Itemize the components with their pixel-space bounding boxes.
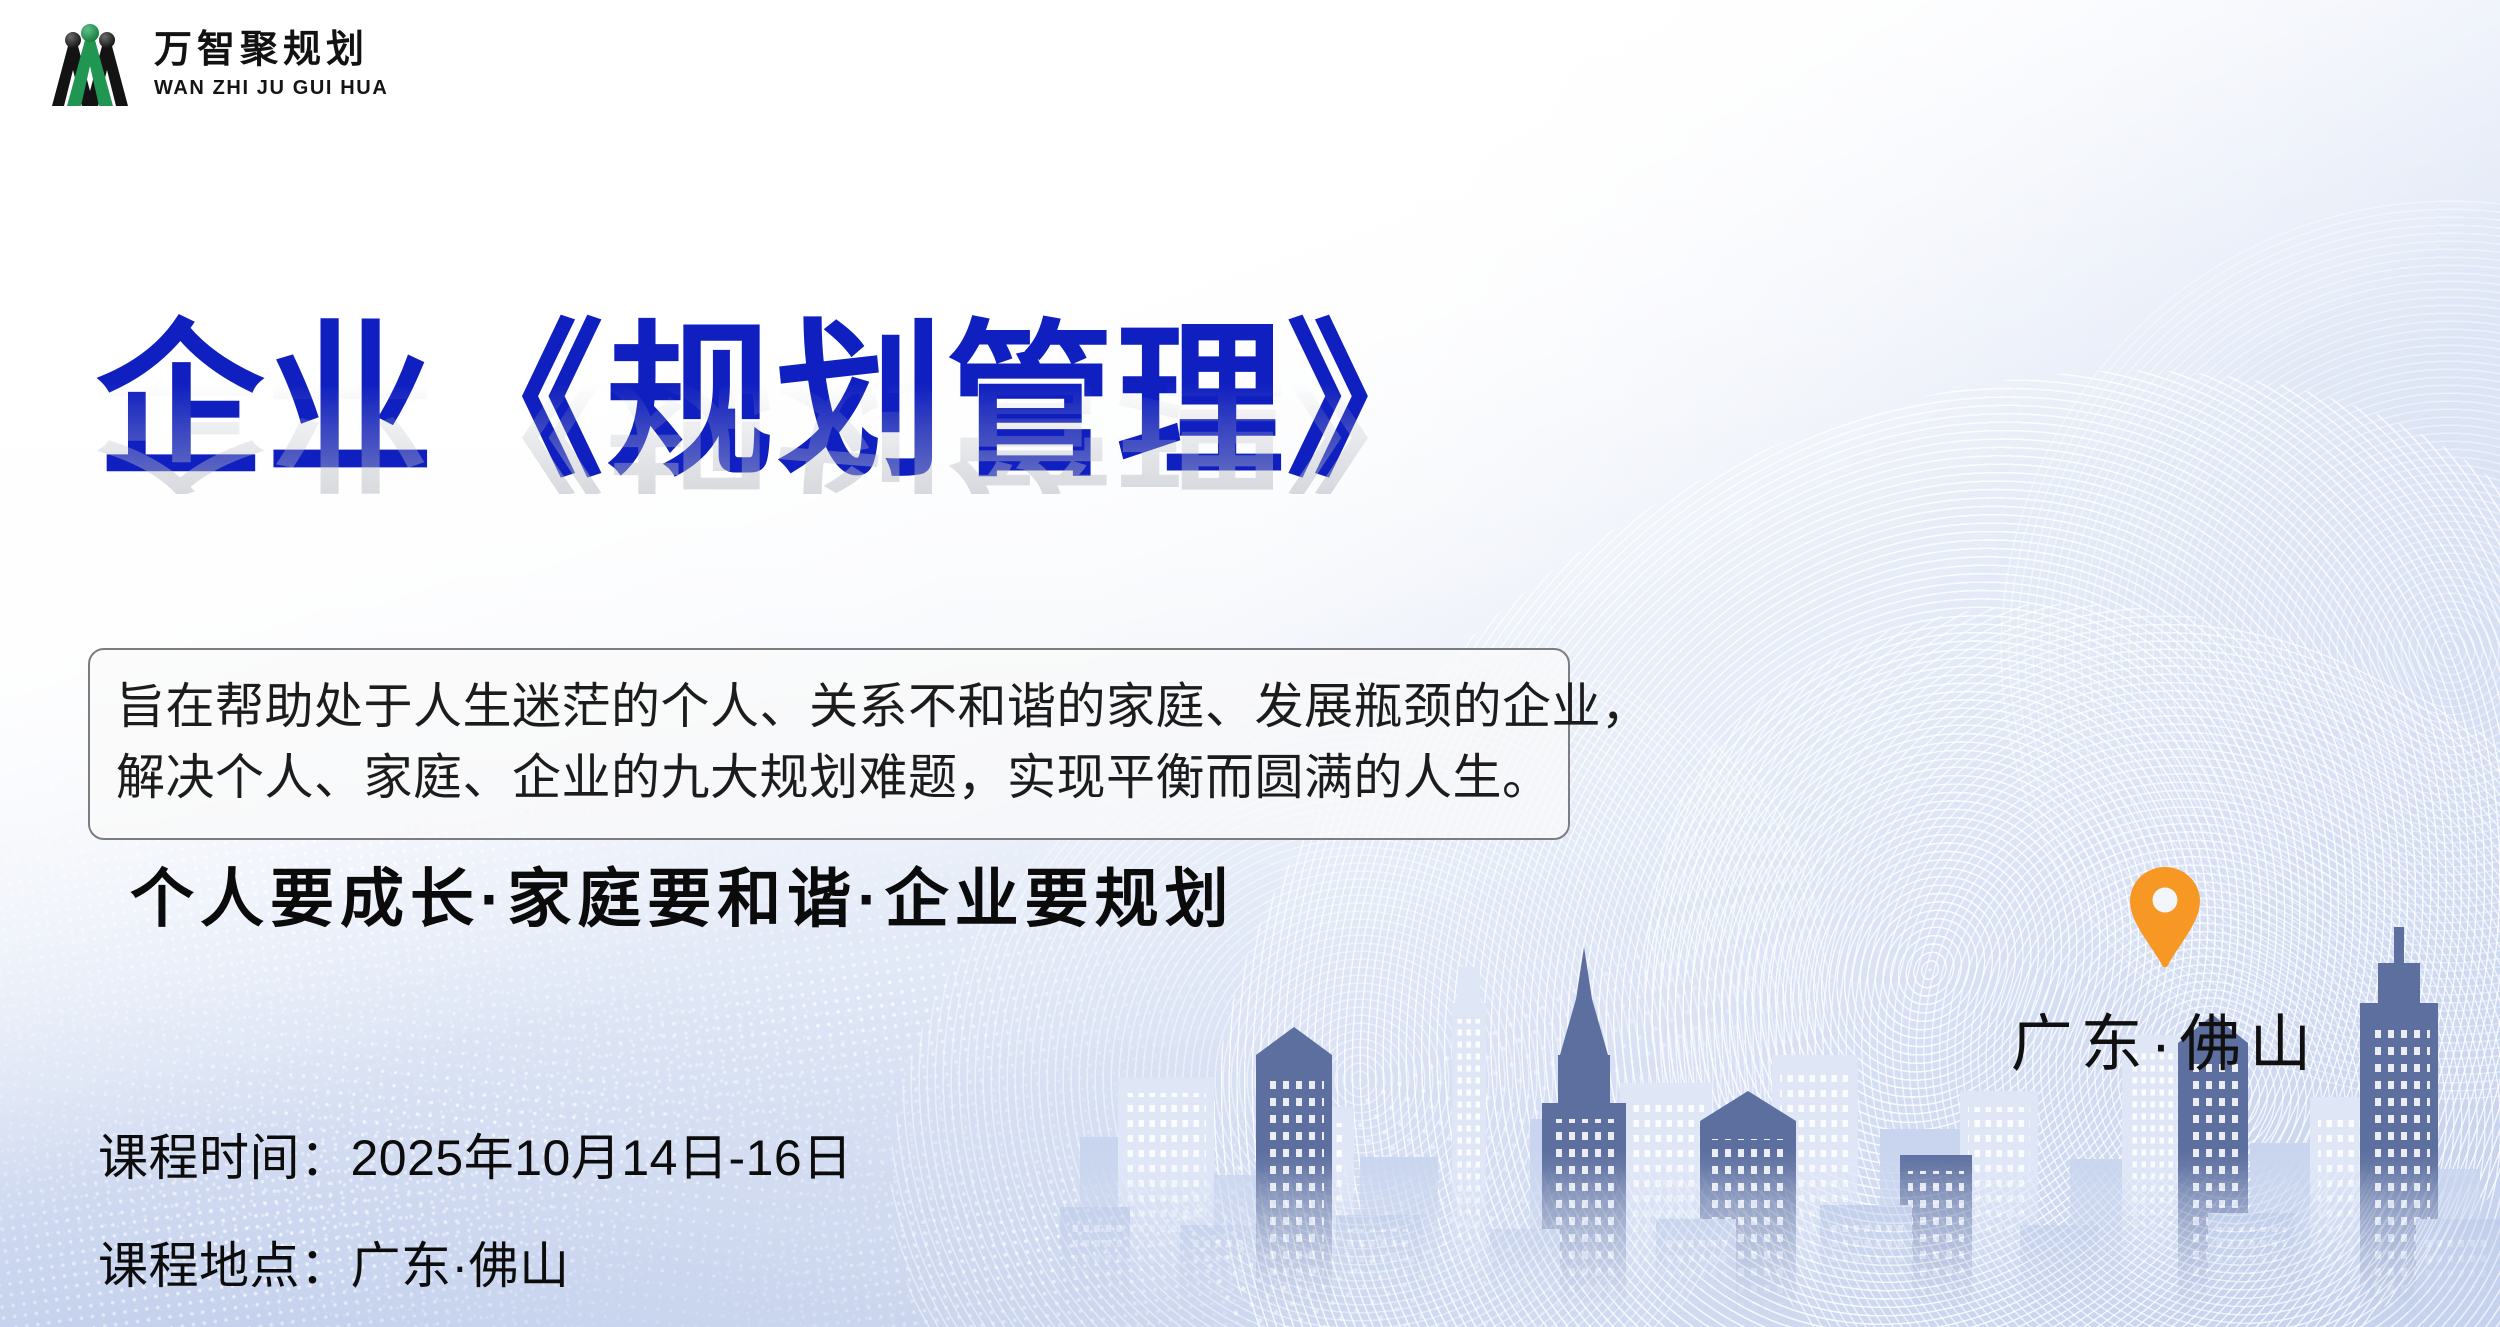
promo-banner: 万智聚规划 WAN ZHI JU GUI HUA 企业《规划管理》 企业《规划管…	[0, 0, 2500, 1327]
brand-name-cn: 万智聚规划	[154, 31, 388, 69]
course-details: 课程时间：2025年10月14日-16日 课程地点：广东·佛山	[98, 1118, 853, 1298]
course-place: 课程地点：广东·佛山	[98, 1226, 853, 1298]
brand-name-pinyin: WAN ZHI JU GUI HUA	[154, 78, 388, 98]
page-title-reflection: 企业《规划管理》	[96, 373, 1636, 494]
hero-title-block: 企业《规划管理》 企业《规划管理》	[96, 318, 1636, 662]
map-pin-icon	[2126, 865, 2204, 969]
brand-logo: 万智聚规划 WAN ZHI JU GUI HUA	[42, 18, 388, 110]
location-label: 广东·佛山	[2011, 993, 2320, 1083]
description-box: 旨在帮助处于人生迷茫的个人、关系不和谐的家庭、发展瓶颈的企业， 解决个人、家庭、…	[88, 648, 1570, 840]
description-line-2: 解决个人、家庭、企业的九大规划难题，实现平衡而圆满的人生。	[116, 743, 1542, 814]
location-marker: 广东·佛山	[1955, 865, 2375, 1083]
tagline: 个人要成长·家庭要和谐·企业要规划	[130, 848, 1235, 940]
description-line-1: 旨在帮助处于人生迷茫的个人、关系不和谐的家庭、发展瓶颈的企业，	[116, 672, 1542, 743]
course-time: 课程时间：2025年10月14日-16日	[98, 1118, 853, 1190]
three-people-group-icon	[42, 18, 138, 110]
brand-name-block: 万智聚规划 WAN ZHI JU GUI HUA	[154, 31, 388, 98]
